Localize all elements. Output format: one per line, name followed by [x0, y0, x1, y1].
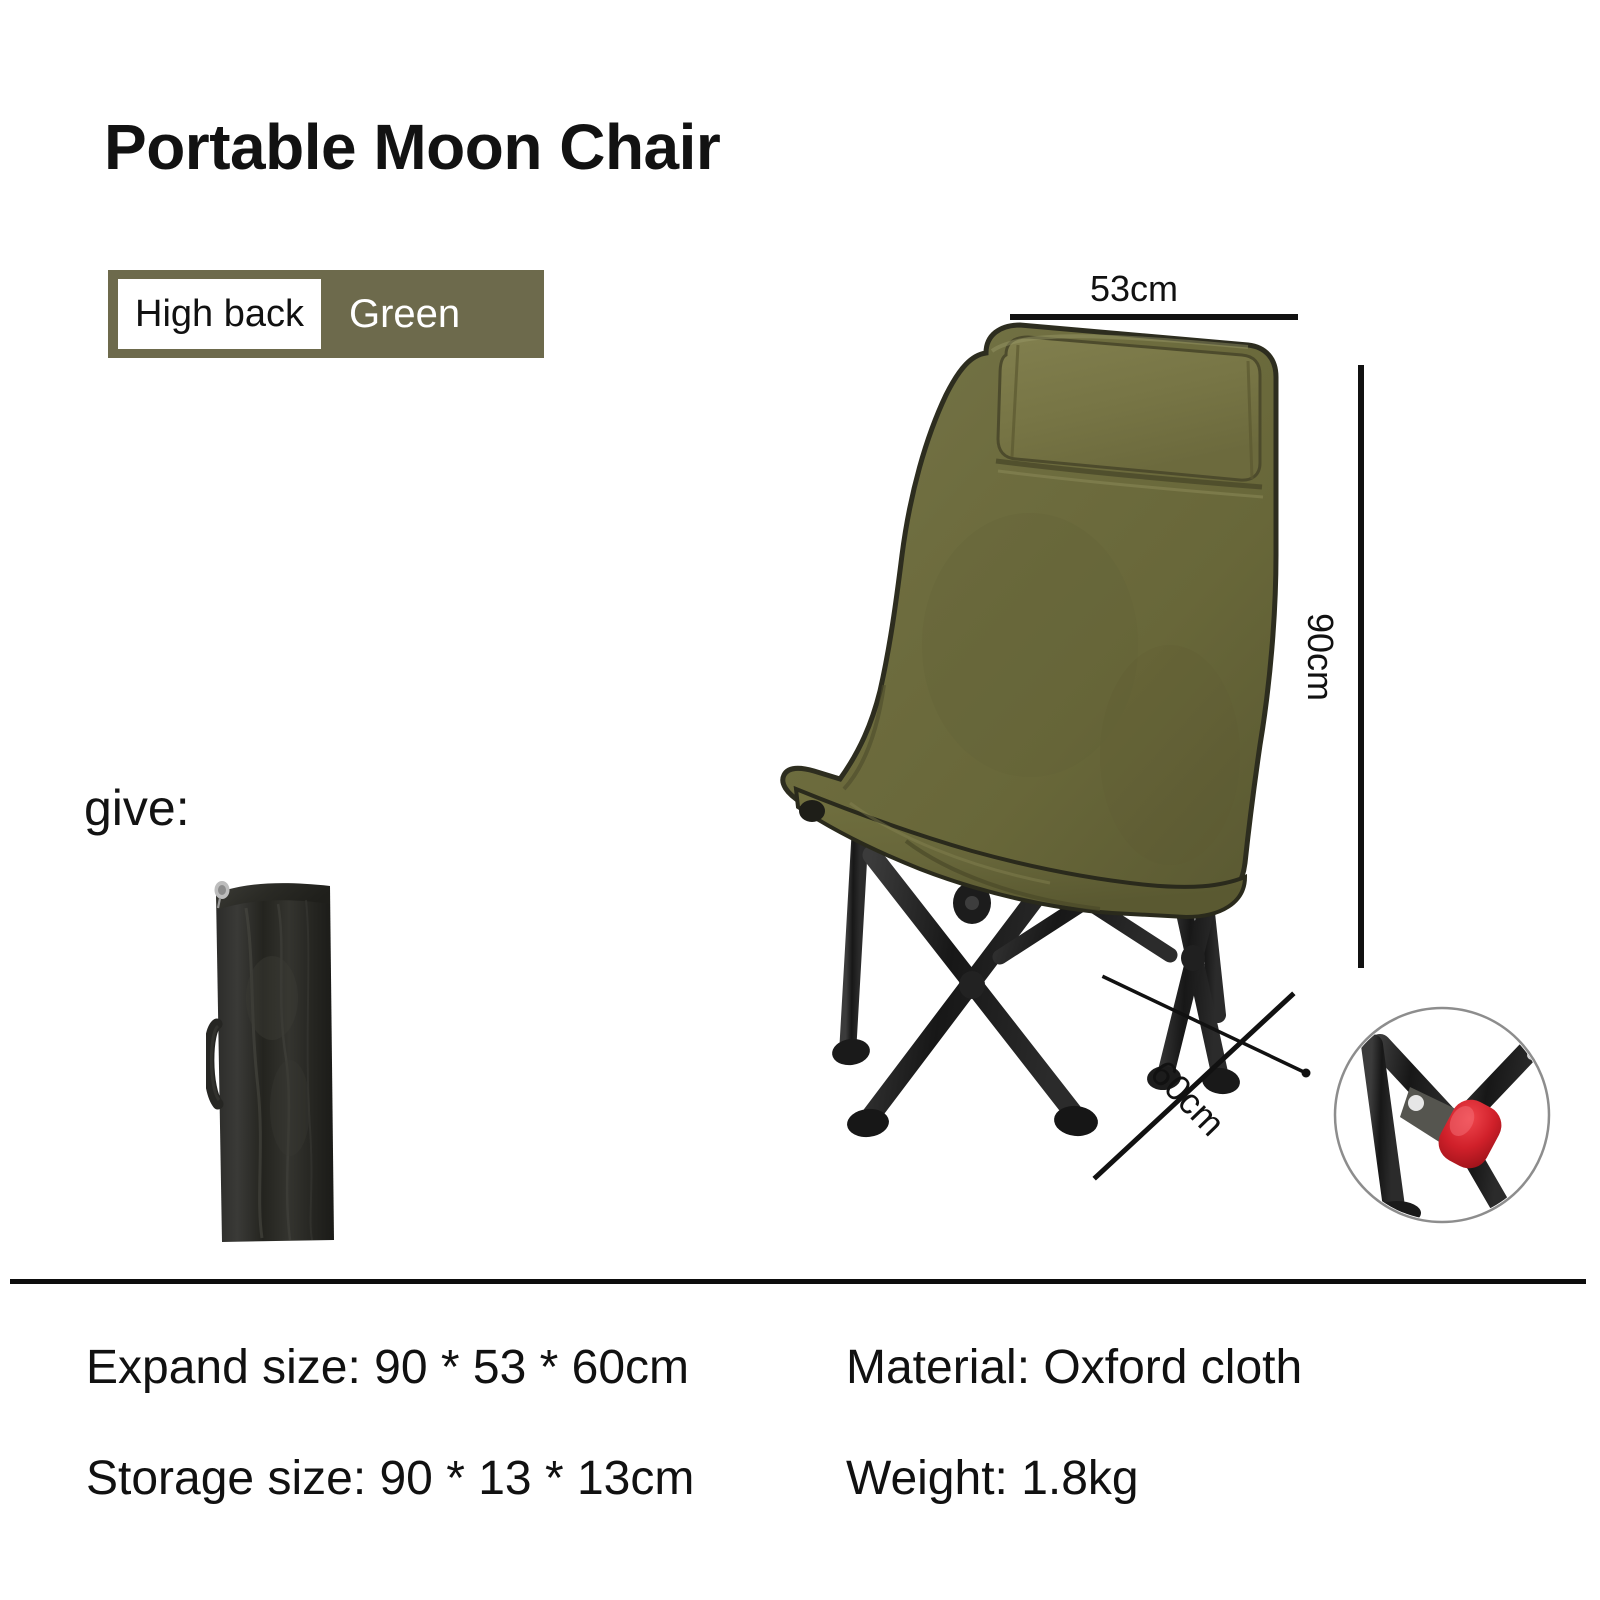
leg-joint-lock-detail [1335, 1008, 1549, 1225]
dimension-label-height: 90cm [1299, 613, 1341, 701]
section-divider [10, 1279, 1586, 1284]
chair-fabric [783, 325, 1276, 917]
spec-row: Expand size: 90 * 53 * 60cm Material: Ox… [86, 1340, 1546, 1395]
storage-bag-image [206, 878, 340, 1248]
spec-material: Material: Oxford cloth [846, 1340, 1302, 1395]
spec-weight: Weight: 1.8kg [846, 1451, 1139, 1506]
spec-storage-size: Storage size: 90 * 13 * 13cm [86, 1451, 846, 1506]
spec-expand-size: Expand size: 90 * 53 * 60cm [86, 1340, 846, 1395]
specifications-table: Expand size: 90 * 53 * 60cm Material: Ox… [86, 1340, 1546, 1562]
page-title: Portable Moon Chair [104, 114, 720, 181]
chair-illustration [700, 255, 1600, 1255]
gift-label: give: [84, 779, 190, 837]
spec-row: Storage size: 90 * 13 * 13cm Weight: 1.8… [86, 1451, 1546, 1506]
variant-type-chip: High back [118, 279, 321, 349]
variant-badge: High back Green [108, 270, 544, 358]
variant-color-label: Green [349, 292, 460, 337]
product-infographic: Portable Moon Chair High back Green give… [0, 0, 1600, 1600]
dimension-label-width: 53cm [1090, 268, 1178, 310]
